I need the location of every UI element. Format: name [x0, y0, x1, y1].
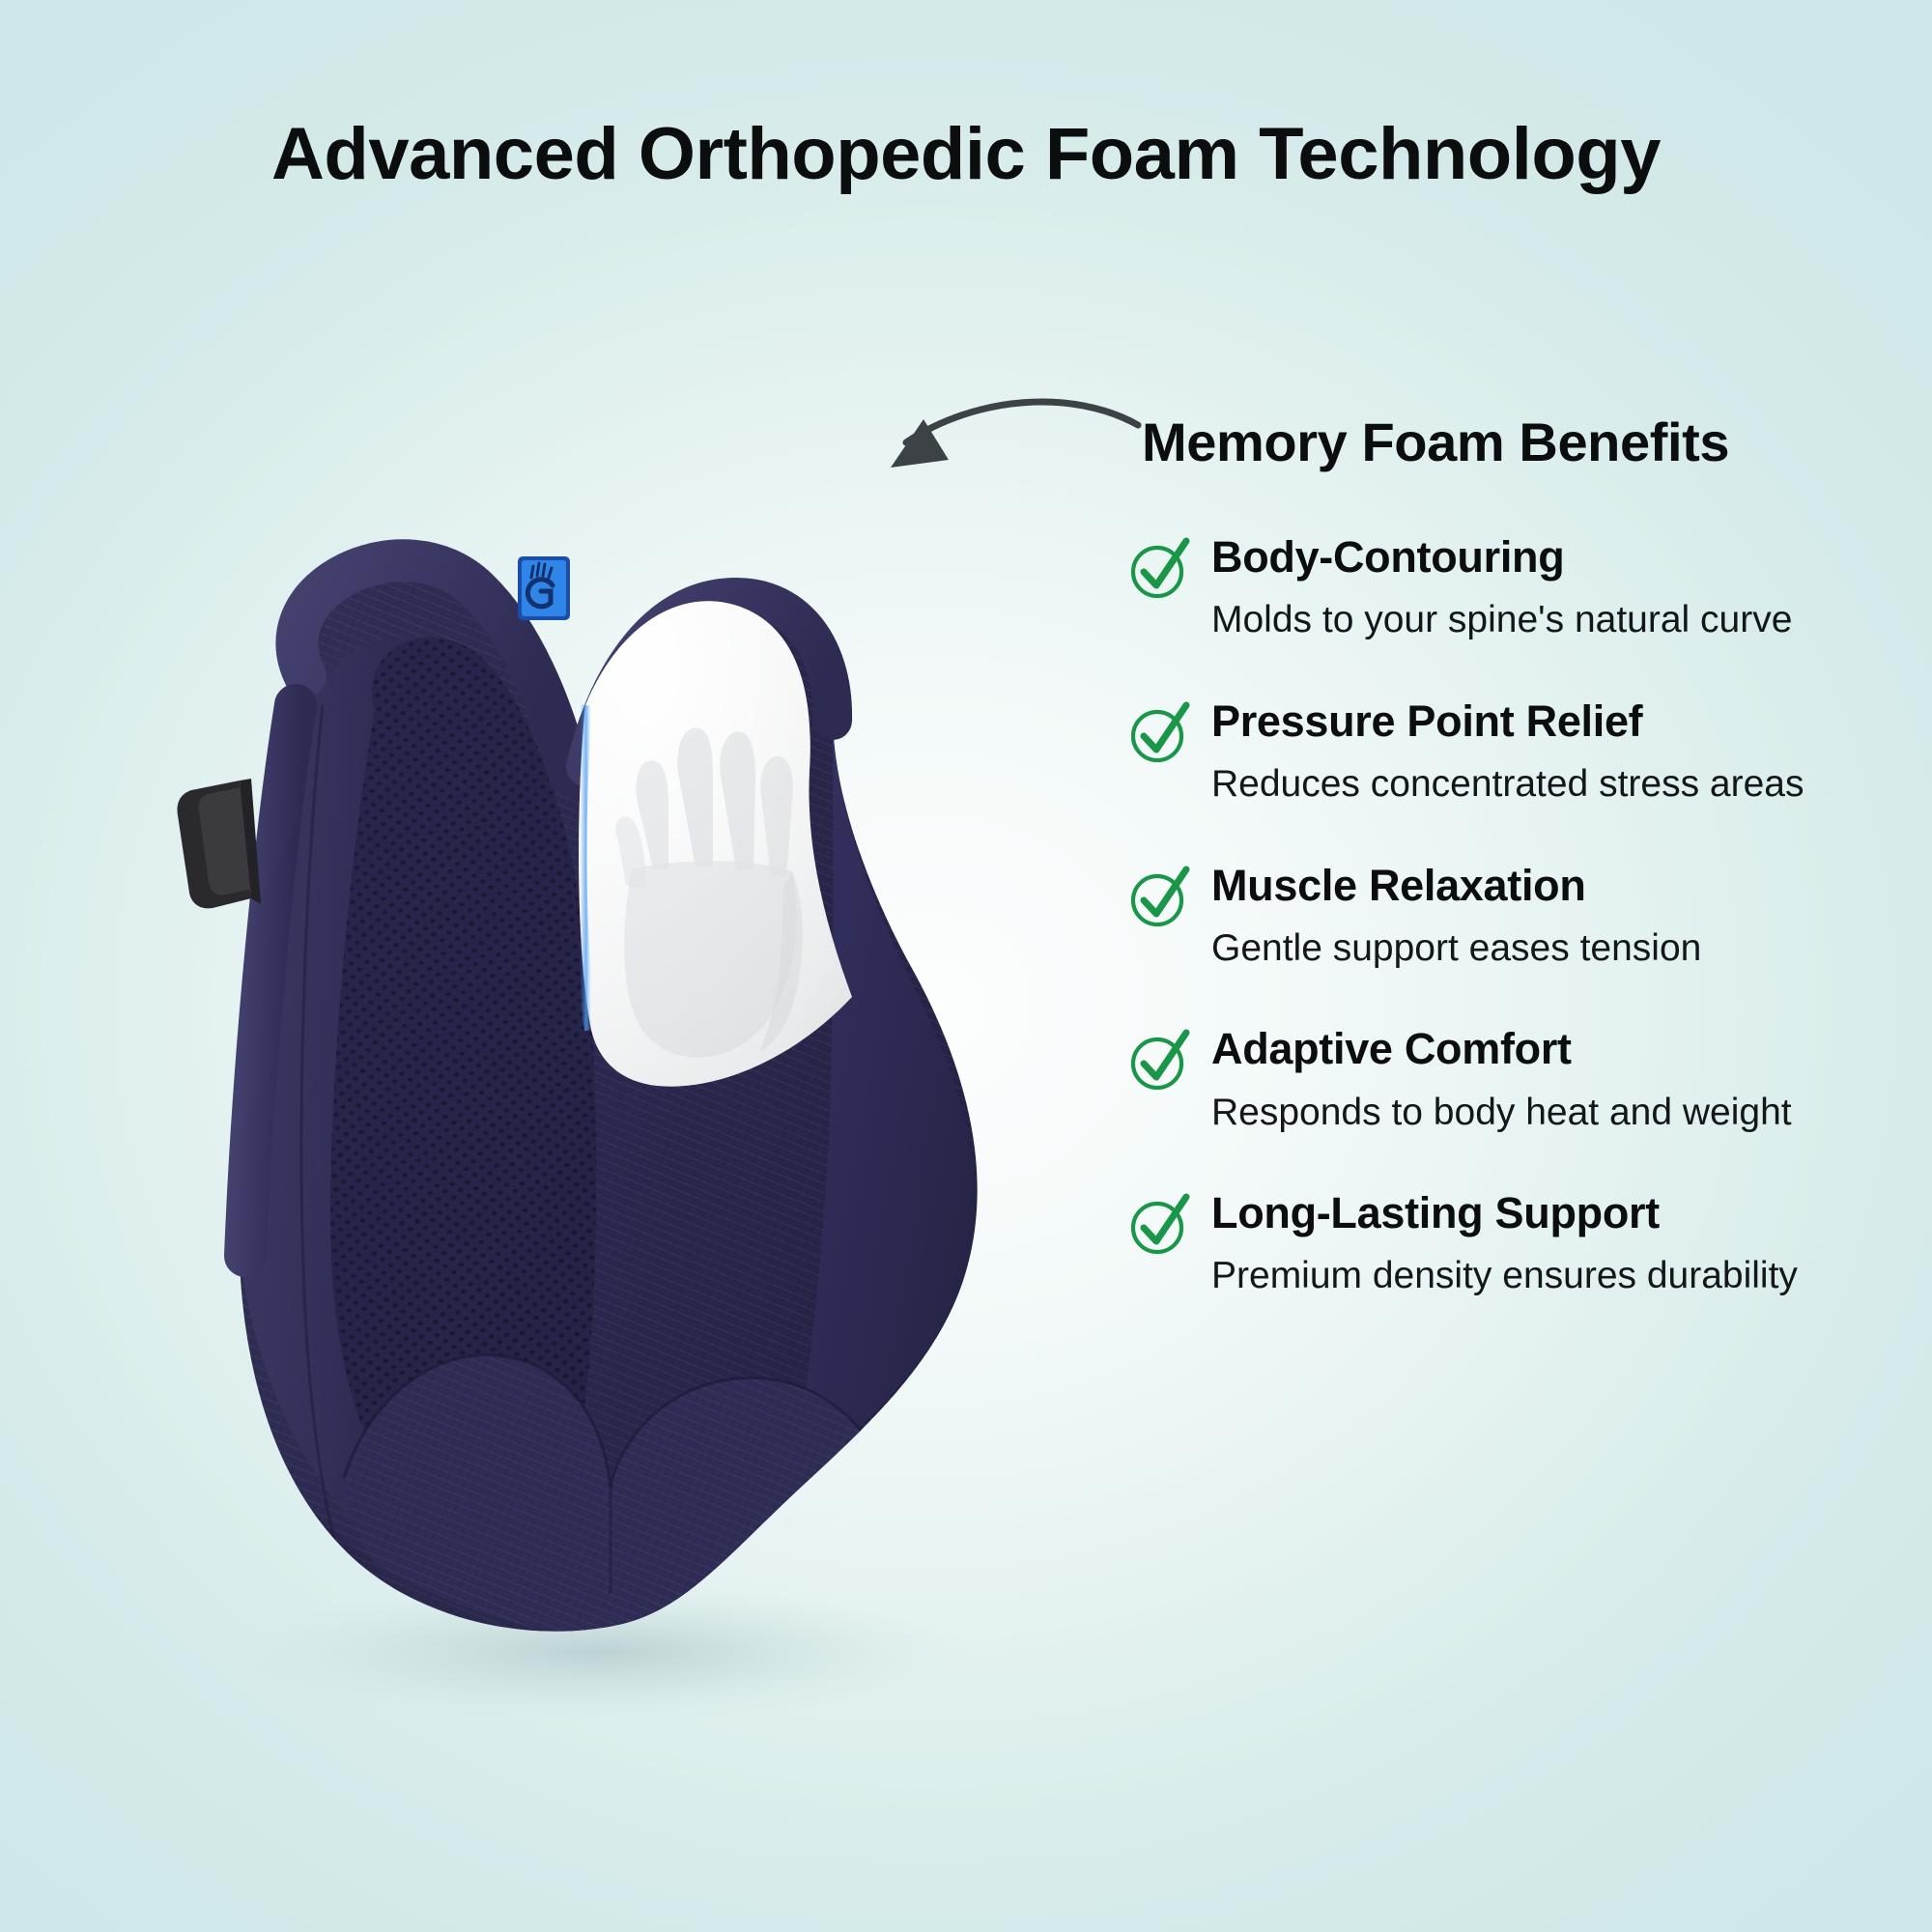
- curved-arrow-left-icon: [831, 386, 1140, 502]
- benefit-item-long-lasting-support: Long-Lasting Support Premium density ens…: [1128, 1189, 1920, 1303]
- benefits-panel: Memory Foam Benefits Body-Contouring Mol…: [1128, 411, 1920, 1303]
- benefit-title: Muscle Relaxation: [1211, 862, 1920, 910]
- check-circle-icon: [1128, 539, 1190, 601]
- benefit-description: Molds to your spine's natural curve: [1211, 593, 1849, 646]
- benefit-title: Pressure Point Relief: [1211, 697, 1920, 746]
- check-circle-icon: [1128, 867, 1190, 929]
- benefit-item-muscle-relaxation: Muscle Relaxation Gentle support eases t…: [1128, 862, 1920, 976]
- benefit-title: Body-Contouring: [1211, 533, 1920, 582]
- infographic-canvas: Advanced Orthopedic Foam Technology: [0, 0, 1932, 1932]
- adjustable-strap-buckle-icon: [178, 779, 261, 908]
- benefit-item-pressure-point-relief: Pressure Point Relief Reduces concentrat…: [1128, 697, 1920, 811]
- benefit-description: Responds to body heat and weight: [1211, 1086, 1849, 1139]
- page-title: Advanced Orthopedic Foam Technology: [0, 112, 1932, 196]
- hand-imprint-icon: [615, 727, 803, 1057]
- benefit-title: Adaptive Comfort: [1211, 1025, 1920, 1073]
- check-circle-icon: [1128, 1195, 1190, 1257]
- benefit-description: Reduces concentrated stress areas: [1211, 757, 1849, 810]
- benefit-description: Gentle support eases tension: [1211, 922, 1920, 975]
- benefit-item-adaptive-comfort: Adaptive Comfort Responds to body heat a…: [1128, 1025, 1920, 1139]
- hand-logo-badge-icon: [518, 556, 570, 620]
- benefit-item-body-contouring: Body-Contouring Molds to your spine's na…: [1128, 533, 1920, 647]
- benefit-description: Premium density ensures durability: [1211, 1249, 1849, 1302]
- check-circle-icon: [1128, 1031, 1190, 1093]
- check-circle-icon: [1128, 703, 1190, 765]
- benefit-title: Long-Lasting Support: [1211, 1189, 1920, 1237]
- benefits-heading: Memory Foam Benefits: [1142, 411, 1920, 473]
- product-image: [116, 386, 1101, 1758]
